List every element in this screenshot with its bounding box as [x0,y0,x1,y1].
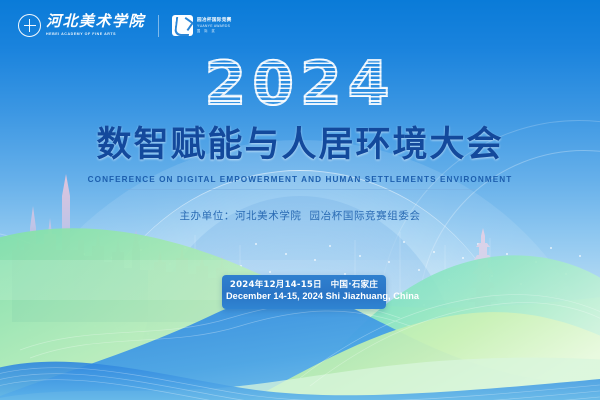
organizer-label: 主办单位： [179,210,235,222]
partner-logo[interactable]: 园冶杯国际竞赛 YUANYE AWARDS 国 际 奖 [172,15,232,36]
yuanye-cup-mark-icon [172,15,193,36]
partner-name-cn: 园冶杯国际竞赛 [197,18,232,23]
university-seal-icon [18,14,41,37]
university-name-cn: 河北美术学院 [46,15,145,30]
partner-name-en: YUANYE AWARDS [197,25,232,28]
university-logo[interactable]: 河北美术学院 HEBEI ACADEMY OF FINE ARTS [18,14,145,37]
poster-header: 河北美术学院 HEBEI ACADEMY OF FINE ARTS 园冶杯国际竞… [18,14,232,37]
date-line-cn: 2024年12月14-15日 中国·石家庄 [226,280,382,291]
title-underline-rule [124,189,476,190]
organizer-line: 主办单位：河北美术学院园冶杯国际竞赛组委会 [0,208,600,223]
page-subtitle-en: CONFERENCE ON DIGITAL EMPOWERMENT AND HU… [0,175,600,184]
partner-subtitle: 国 际 奖 [197,30,232,33]
logo-divider [158,15,159,37]
status-badge: 2024年12月14-15日 中国·石家庄 December 14-15, 20… [222,275,386,309]
date-line-en: December 14-15, 2024 Shi Jiazhuang, Chin… [226,291,382,303]
conference-poster: 河北美术学院 HEBEI ACADEMY OF FINE ARTS 园冶杯国际竞… [0,0,600,400]
organizer-name-1: 河北美术学院 [235,210,302,222]
page-title: 数智赋能与人居环境大会 [0,126,600,165]
organizer-name-2: 园冶杯国际竞赛组委会 [310,210,421,222]
university-name-en: HEBEI ACADEMY OF FINE ARTS [46,33,145,37]
year-headline: 2024 [0,54,600,114]
